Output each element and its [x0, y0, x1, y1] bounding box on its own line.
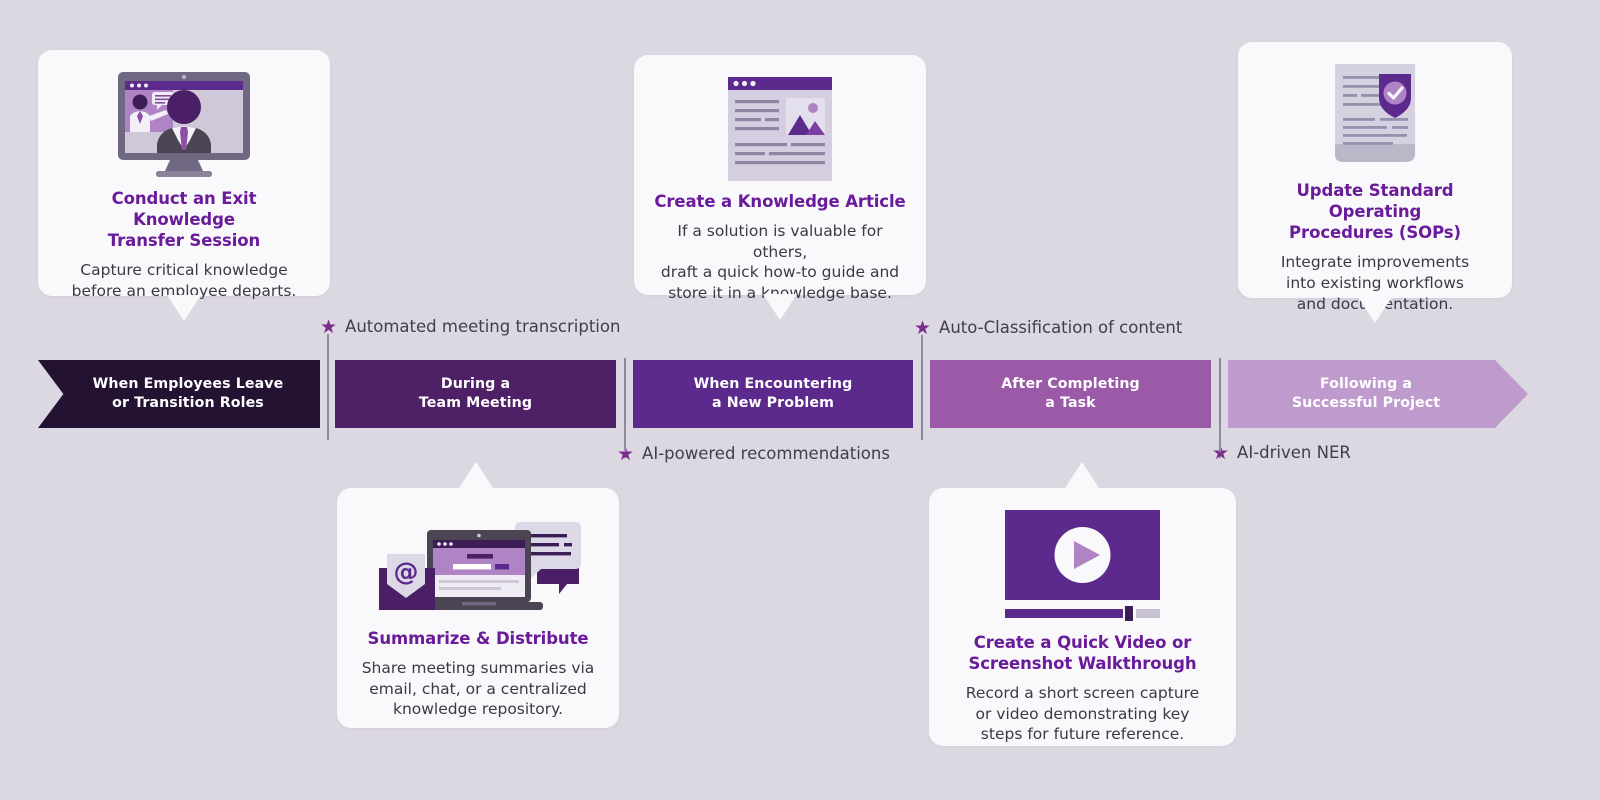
timeline-step-label: Following a Successful Project: [1292, 375, 1464, 412]
card-pointer-tail: [459, 462, 493, 488]
card-summarize-distribute[interactable]: @ Summarize & Distribute Share meeting s…: [337, 488, 619, 728]
annotation-ai-recommendations: ★ AI-powered recommendations: [617, 445, 890, 464]
video-player-play-icon: [949, 506, 1216, 622]
card-pointer-tail: [763, 294, 797, 320]
timeline-step-label: When Encountering a New Problem: [694, 375, 853, 412]
video-call-monitor-icon: [58, 68, 310, 178]
article-browser-window-icon: [654, 73, 906, 181]
annotation-label: AI-powered recommendations: [642, 446, 890, 463]
annotation-label: AI-driven NER: [1237, 445, 1351, 462]
annotation-leader-line: [921, 335, 923, 360]
annotation-automated-transcription: ★ Automated meeting transcription: [320, 318, 620, 337]
svg-text:@: @: [394, 557, 419, 586]
card-pointer-tail: [1065, 462, 1099, 488]
timeline-step-team-meeting[interactable]: During a Team Meeting: [335, 360, 616, 428]
annotation-label: Automated meeting transcription: [345, 319, 620, 336]
annotation-leader-line: [624, 428, 626, 452]
timeline-step-label: When Employees Leave or Transition Roles: [75, 375, 284, 412]
card-update-sops[interactable]: Update Standard Operating Procedures (SO…: [1238, 42, 1512, 298]
timeline-step-after-task[interactable]: After Completing a Task: [930, 360, 1211, 428]
timeline-divider-tick: [327, 348, 329, 440]
annotation-leader-line: [1219, 428, 1221, 452]
timeline-step-employees-leave[interactable]: When Employees Leave or Transition Roles: [38, 360, 320, 428]
document-shield-check-icon: [1258, 60, 1492, 170]
card-pointer-tail: [167, 295, 201, 321]
timeline-step-successful-project[interactable]: Following a Successful Project: [1228, 360, 1528, 428]
annotation-label: Auto-Classification of content: [939, 320, 1182, 337]
card-description: Record a short screen capture or video d…: [949, 683, 1216, 745]
card-description: If a solution is valuable for others, dr…: [654, 221, 906, 303]
card-knowledge-article[interactable]: Create a Knowledge Article If a solution…: [634, 55, 926, 295]
infographic-canvas: Conduct an Exit Knowledge Transfer Sessi…: [0, 0, 1600, 800]
timeline-divider-tick: [921, 348, 923, 440]
card-title: Update Standard Operating Procedures (SO…: [1258, 180, 1492, 243]
card-title: Conduct an Exit Knowledge Transfer Sessi…: [58, 188, 310, 251]
annotation-auto-classification: ★ Auto-Classification of content: [914, 319, 1182, 338]
card-description: Share meeting summaries via email, chat,…: [357, 658, 599, 720]
card-title: Create a Quick Video or Screenshot Walkt…: [949, 632, 1216, 674]
card-exit-knowledge-transfer[interactable]: Conduct an Exit Knowledge Transfer Sessi…: [38, 50, 330, 296]
card-quick-video-walkthrough[interactable]: Create a Quick Video or Screenshot Walkt…: [929, 488, 1236, 746]
laptop-email-chat-icon: @: [357, 506, 599, 618]
annotation-ai-ner: ★ AI-driven NER: [1212, 444, 1351, 463]
timeline-step-label: During a Team Meeting: [419, 375, 532, 412]
timeline-step-label: After Completing a Task: [1001, 375, 1140, 412]
card-pointer-tail: [1358, 297, 1392, 323]
card-title: Create a Knowledge Article: [654, 191, 906, 212]
annotation-leader-line: [327, 334, 329, 360]
card-title: Summarize & Distribute: [357, 628, 599, 649]
timeline-step-new-problem[interactable]: When Encountering a New Problem: [633, 360, 913, 428]
